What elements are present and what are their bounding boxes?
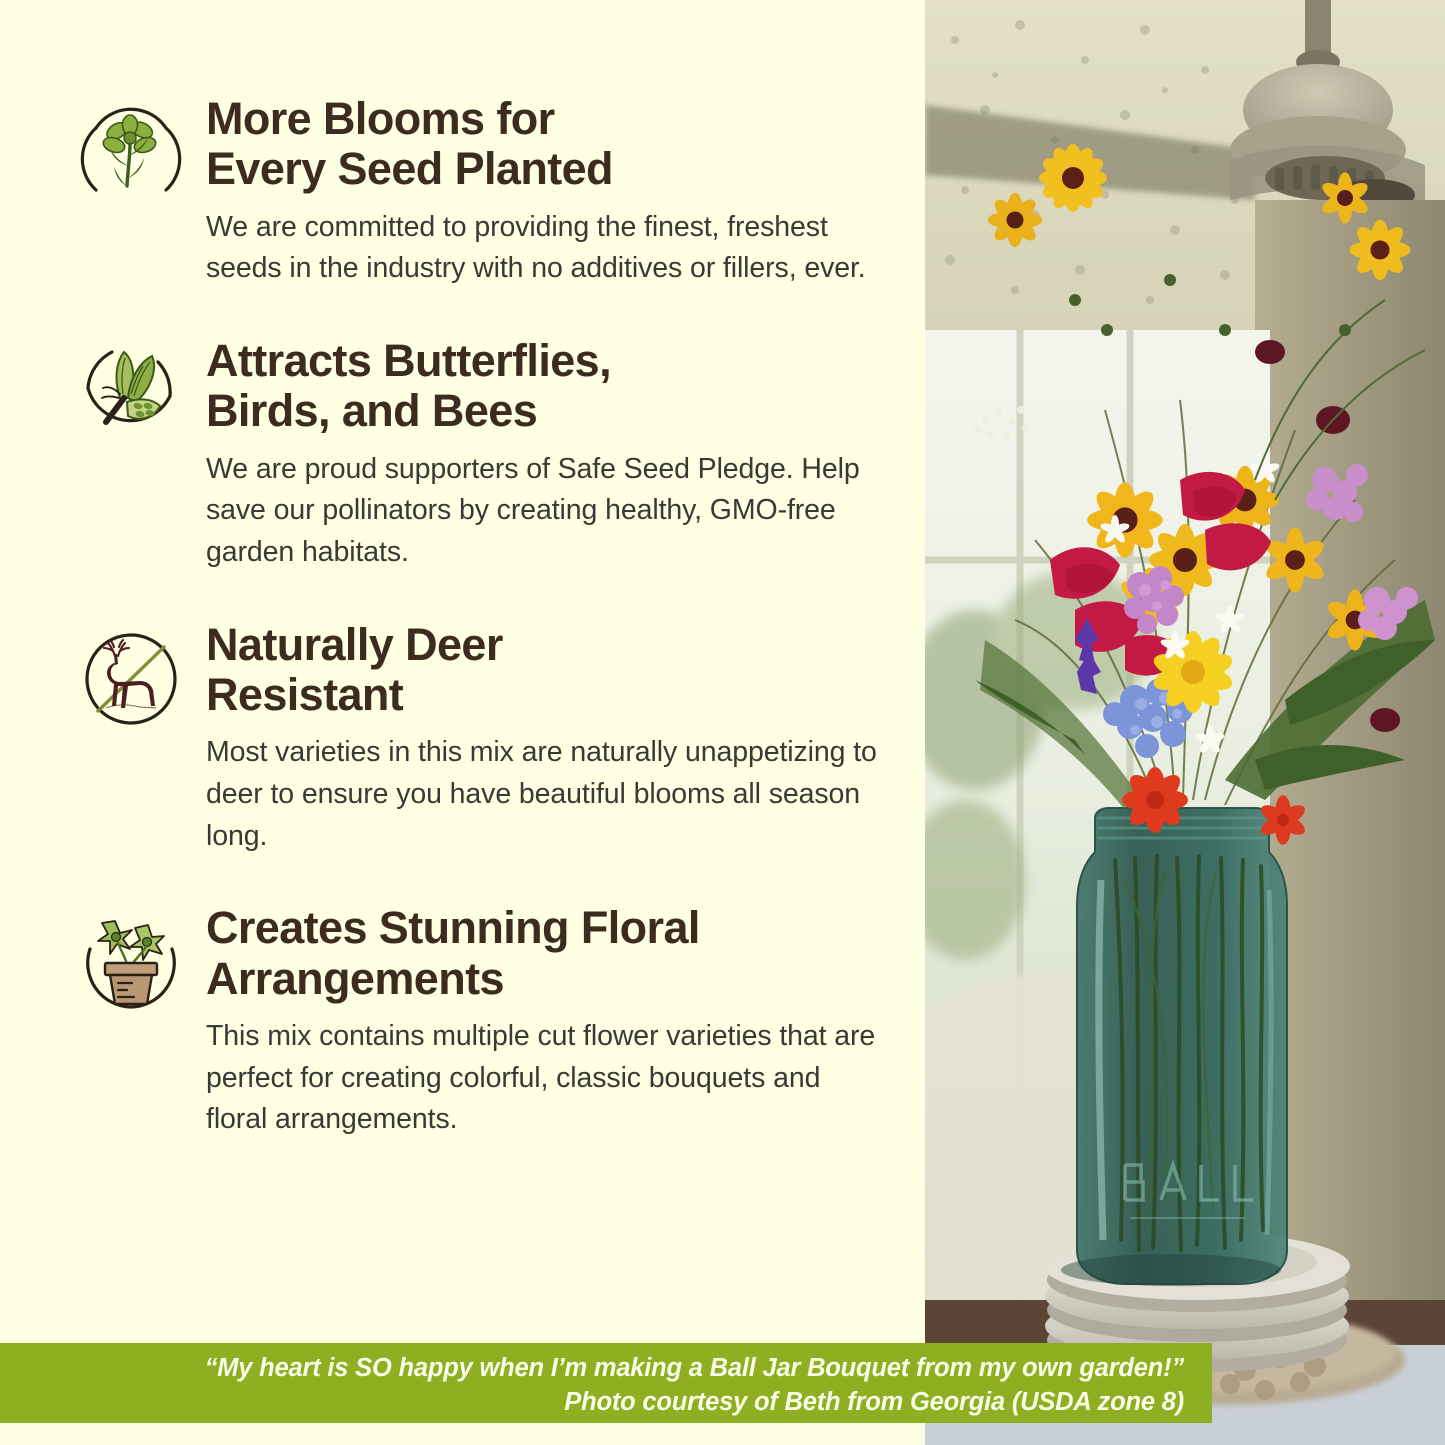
feature-item: Attracts Butterflies, Birds, and Bees We… [72, 334, 880, 574]
feature-text: More Blooms for Every Seed Planted We ar… [206, 92, 880, 290]
feature-description: This mix contains multiple cut flower va… [206, 1016, 880, 1141]
feature-text: Creates Stunning Floral Arrangements Thi… [206, 901, 880, 1141]
feature-title: More Blooms for Every Seed Planted [206, 94, 880, 195]
butterfly-icon [72, 336, 190, 454]
feature-item: More Blooms for Every Seed Planted We ar… [72, 92, 880, 290]
feature-description: We are committed to providing the finest… [206, 207, 880, 290]
caption-quote: “My heart is SO happy when I’m making a … [0, 1352, 1184, 1386]
potted-plant-icon [72, 903, 190, 1021]
infographic-page: More Blooms for Every Seed Planted We ar… [0, 0, 1445, 1445]
feature-text: Attracts Butterflies, Birds, and Bees We… [206, 334, 880, 574]
feature-title: Creates Stunning Floral Arrangements [206, 903, 880, 1004]
no-deer-icon [72, 620, 190, 738]
photo-caption-bar: “My heart is SO happy when I’m making a … [0, 1343, 1212, 1423]
flower-sprout-icon [72, 94, 190, 212]
feature-item: Naturally Deer Resistant Most varieties … [72, 618, 880, 858]
caption-credit: Photo courtesy of Beth from Georgia (USD… [0, 1386, 1184, 1420]
feature-title: Attracts Butterflies, Birds, and Bees [206, 336, 880, 437]
feature-item: Creates Stunning Floral Arrangements Thi… [72, 901, 880, 1141]
feature-description: Most varieties in this mix are naturally… [206, 732, 880, 857]
features-panel: More Blooms for Every Seed Planted We ar… [0, 0, 925, 1445]
feature-title: Naturally Deer Resistant [206, 620, 880, 721]
feature-description: We are proud supporters of Safe Seed Ple… [206, 449, 880, 574]
bouquet-photo [925, 0, 1445, 1445]
feature-text: Naturally Deer Resistant Most varieties … [206, 618, 880, 858]
